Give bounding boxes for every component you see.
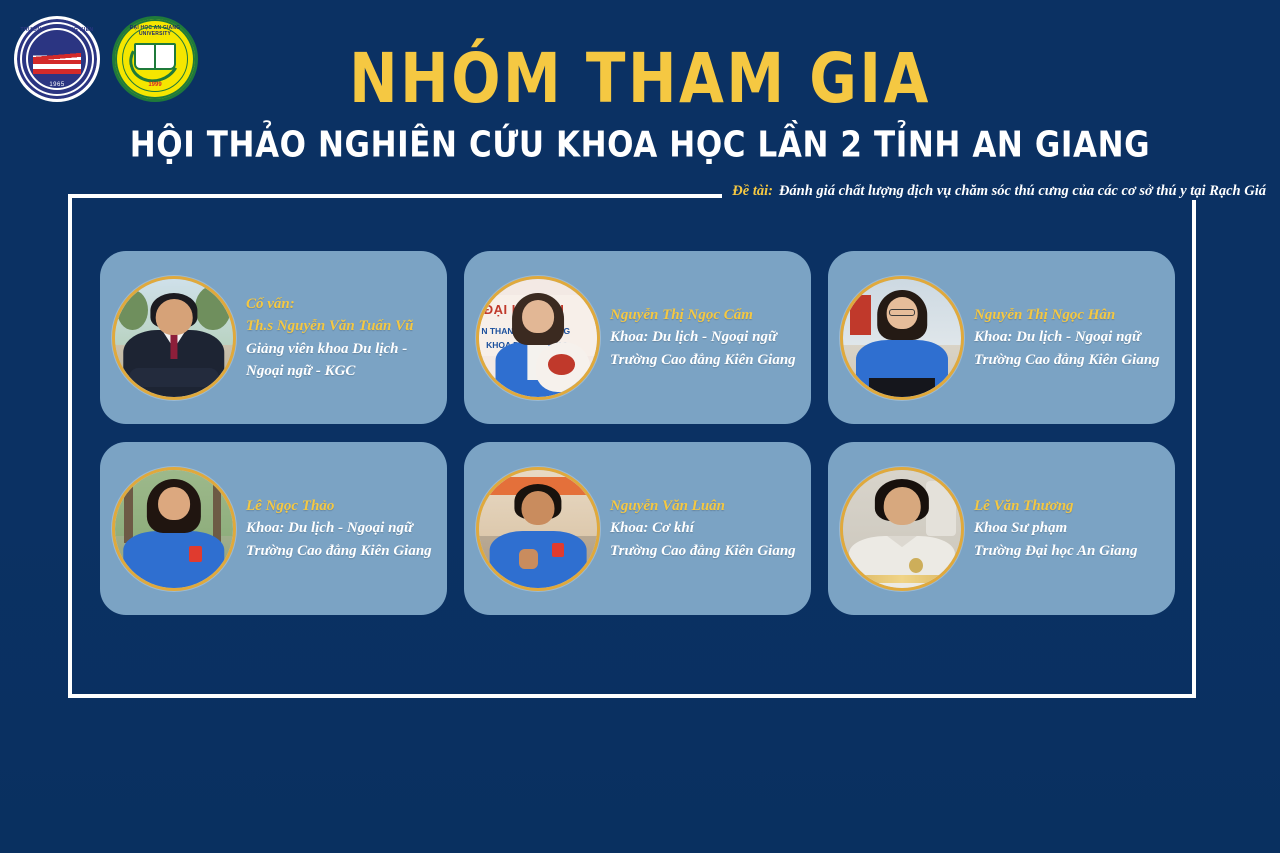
member-line-3: Ngoại ngữ - KGC [246,361,437,381]
topic-label: Đề tài: [732,183,773,200]
member-card[interactable]: Lê Văn Thương Khoa Sư phạm Trường Đại họ… [828,442,1175,615]
member-line-3: Trường Cao đẳng Kiên Giang [610,350,801,370]
member-name: Lê Văn Thương [974,496,1165,516]
topic-text: Đánh giá chất lượng dịch vụ chăm sóc thú… [779,183,1266,200]
member-grid: Cố vấn: Th.s Nguyễn Văn Tuấn Vũ Giảng vi… [100,251,1175,615]
poster-canvas: TRƯỜNG CAO ĐẲNG KIÊN GIANG 1965 ĐẠI HỌC … [0,0,1280,853]
page-title: NHÓM THAM GIA [0,44,1280,112]
member-info: Cố vấn: Th.s Nguyễn Văn Tuấn Vũ Giảng vi… [246,294,437,381]
member-card[interactable]: Cố vấn: Th.s Nguyễn Văn Tuấn Vũ Giảng vi… [100,251,447,424]
member-info: Lê Ngọc Thảo Khoa: Du lịch - Ngoại ngữ T… [246,496,437,561]
member-card[interactable]: ĐẠI HỘI ĐẠI N THANH NIÊN CỘNG KHOA DU LỊ… [464,251,811,424]
member-photo [115,470,233,588]
member-info: Nguyễn Văn Luân Khoa: Cơ khí Trường Cao … [610,496,801,561]
member-card[interactable]: Nguyễn Văn Luân Khoa: Cơ khí Trường Cao … [464,442,811,615]
member-role: Cố vấn: [246,294,437,314]
member-name: Nguyễn Thị Ngọc Cẩm [610,305,801,325]
member-name: Lê Ngọc Thảo [246,496,437,516]
member-info: Nguyễn Thị Ngọc Hân Khoa: Du lịch - Ngoạ… [974,305,1165,370]
avatar [840,276,964,400]
member-name: Th.s Nguyễn Văn Tuấn Vũ [246,316,437,336]
member-info: Nguyễn Thị Ngọc Cẩm Khoa: Du lịch - Ngoạ… [610,305,801,370]
member-info: Lê Văn Thương Khoa Sư phạm Trường Đại họ… [974,496,1165,561]
member-photo [115,279,233,397]
avatar [476,467,600,591]
member-line-3: Trường Cao đẳng Kiên Giang [246,541,437,561]
member-photo [843,470,961,588]
member-card[interactable]: Lê Ngọc Thảo Khoa: Du lịch - Ngoại ngữ T… [100,442,447,615]
member-line-2: Khoa Sư phạm [974,518,1165,538]
member-line-2: Khoa: Du lịch - Ngoại ngữ [974,327,1165,347]
avatar [112,276,236,400]
member-line-3: Trường Cao đẳng Kiên Giang [974,350,1165,370]
member-photo: ĐẠI HỘI ĐẠI N THANH NIÊN CỘNG KHOA DU LỊ… [479,279,597,397]
avatar [840,467,964,591]
member-name: Nguyễn Thị Ngọc Hân [974,305,1165,325]
member-photo [479,470,597,588]
member-photo [843,279,961,397]
member-line-2: Khoa: Cơ khí [610,518,801,538]
member-line-3: Trường Đại học An Giang [974,541,1165,561]
topic-line: Đề tài: Đánh giá chất lượng dịch vụ chăm… [722,183,1274,200]
member-line-2: Khoa: Du lịch - Ngoại ngữ [246,518,437,538]
member-line-2: Giảng viên khoa Du lịch - [246,339,437,359]
member-line-3: Trường Cao đẳng Kiên Giang [610,541,801,561]
member-name: Nguyễn Văn Luân [610,496,801,516]
avatar [112,467,236,591]
page-subtitle: HỘI THẢO NGHIÊN CỨU KHOA HỌC LẦN 2 TỈNH … [0,128,1280,163]
member-line-2: Khoa: Du lịch - Ngoại ngữ [610,327,801,347]
avatar: ĐẠI HỘI ĐẠI N THANH NIÊN CỘNG KHOA DU LỊ… [476,276,600,400]
member-card[interactable]: Nguyễn Thị Ngọc Hân Khoa: Du lịch - Ngoạ… [828,251,1175,424]
